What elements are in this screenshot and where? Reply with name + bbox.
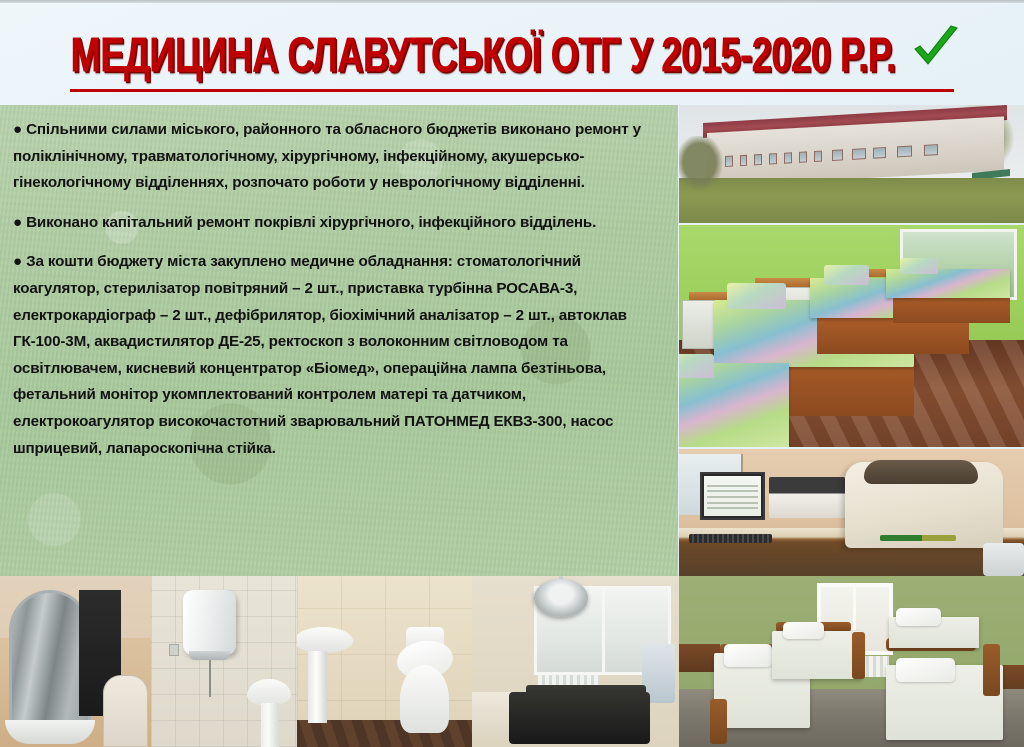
operating-room-photo <box>472 576 679 747</box>
title-row: МЕДИЦИНА СЛАВУТСЬКОЇ ОТГ У 2015-2020 Р.Р… <box>0 25 1024 73</box>
lab-printer <box>769 477 845 518</box>
surgical-lamp <box>534 579 588 617</box>
hospital-exterior-photo <box>679 105 1024 223</box>
toilet-bowl <box>400 665 449 733</box>
title-underline <box>70 89 954 92</box>
presentation-slide: МЕДИЦИНА СЛАВУТСЬКОЇ ОТГ У 2015-2020 Р.Р… <box>0 0 1024 747</box>
operating-table <box>509 692 650 743</box>
lab-monitor <box>700 472 766 520</box>
wall-socket <box>169 644 179 656</box>
bullet-paragraph-3: ● За кошти бюджету міста закуплено медич… <box>13 249 660 462</box>
bathroom-photo <box>297 576 472 747</box>
content-panel: ● Спільними силами міського, районного т… <box>0 105 678 576</box>
wash-basin <box>297 627 353 653</box>
slide-header: МЕДИЦИНА СЛАВУТСЬКОЇ ОТГ У 2015-2020 Р.Р… <box>0 3 1024 103</box>
water-heater-photo <box>151 576 297 747</box>
bullet-paragraph-1: ● Спільними силами міського, районного т… <box>13 117 660 197</box>
content-panel-inner: ● Спільними силами міського, районного т… <box>0 105 678 462</box>
page-title: МЕДИЦИНА СЛАВУТСЬКОЇ ОТГ У 2015-2020 Р.Р… <box>70 28 895 83</box>
window-mullion <box>602 586 605 675</box>
hospital-ward-photo <box>679 225 1024 447</box>
water-heater <box>183 590 236 655</box>
water-heater-base <box>189 651 230 660</box>
analyzer-logo <box>880 535 956 541</box>
lab-keyboard <box>689 534 772 543</box>
green-check-icon <box>910 24 962 72</box>
bottom-photo-strip <box>0 576 1024 747</box>
lab-waste-bin <box>983 543 1024 576</box>
basin-pedestal <box>261 703 280 747</box>
lawn-region <box>679 178 1024 223</box>
laboratory-analyzer-photo <box>679 449 1024 576</box>
shower-cabin-photo <box>0 576 151 747</box>
foreground-tree <box>679 136 727 195</box>
water-pipe <box>209 660 211 698</box>
renovated-ward-photo <box>679 576 1024 747</box>
monitor-screen <box>704 476 762 516</box>
shower-tray <box>5 720 96 744</box>
basin-pedestal <box>308 651 327 723</box>
shower-room-chair <box>103 675 148 747</box>
bullet-paragraph-2: ● Виконано капітальний ремонт покрівлі х… <box>13 210 660 237</box>
biochemical-analyzer <box>845 462 1004 548</box>
analyzer-lid <box>864 460 978 484</box>
right-photo-column <box>679 105 1024 576</box>
